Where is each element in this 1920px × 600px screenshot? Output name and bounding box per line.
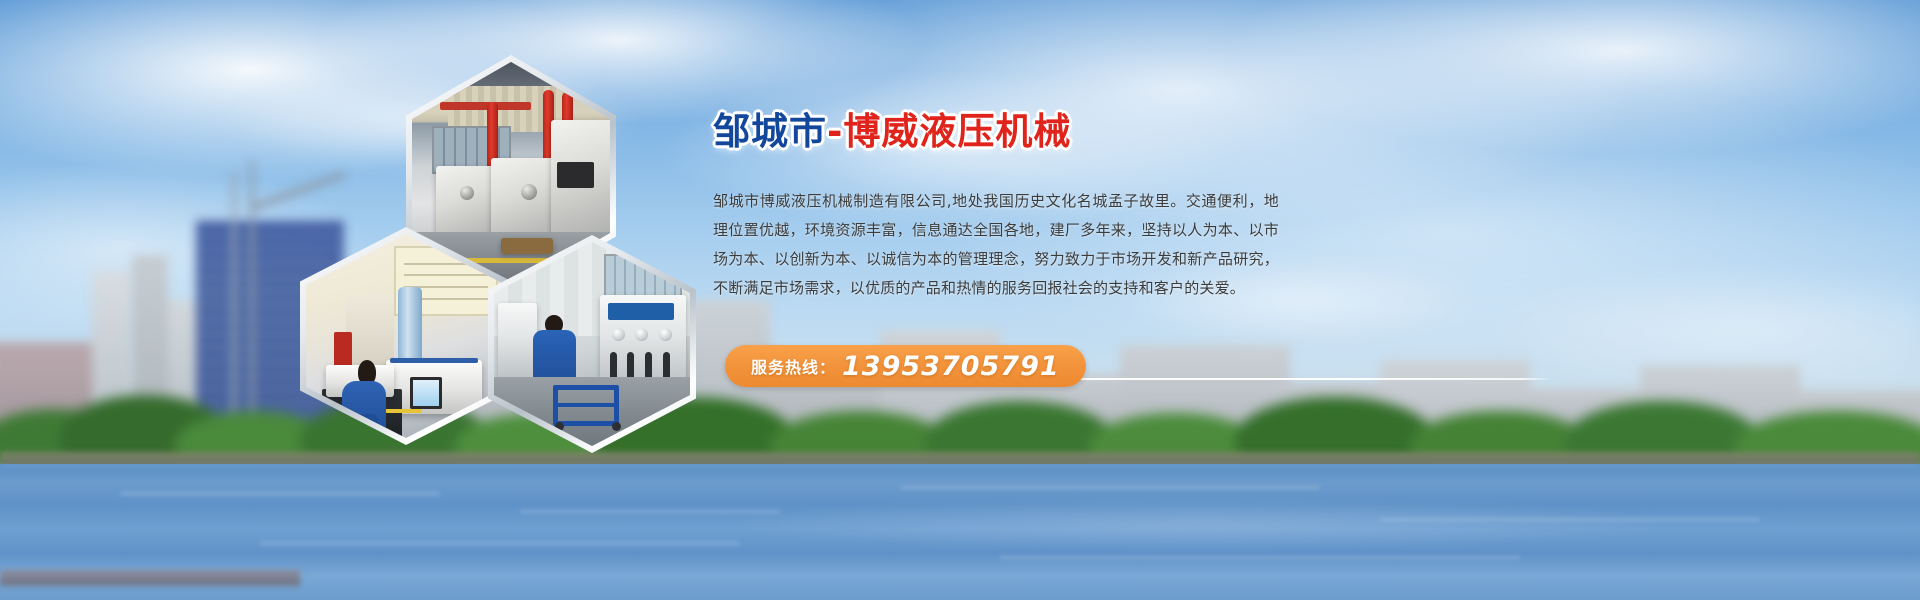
title-primary: 邹城市 (713, 110, 827, 153)
hotline-button[interactable]: 服务热线： 13953705791 (725, 345, 1086, 387)
hexagon-photo-cluster (300, 55, 700, 445)
banner-content: 邹城市-博威液压机械 邹城市博威液压机械制造有限公司,地处我国历史文化名城孟子故… (713, 108, 1613, 303)
lab-photo (306, 234, 506, 438)
hotline-label: 服务热线： (751, 354, 836, 378)
title-secondary: -博威液压机械 (827, 110, 1071, 153)
company-description: 邹城市博威液压机械制造有限公司,地处我国历史文化名城孟子故里。交通便利，地理位置… (713, 187, 1279, 303)
test-bench-photo (494, 242, 690, 446)
hotline-number: 13953705791 (842, 351, 1060, 382)
company-banner: 邹城市-博威液压机械 邹城市博威液压机械制造有限公司,地处我国历史文化名城孟子故… (0, 0, 1920, 600)
pier (0, 570, 300, 586)
page-title: 邹城市-博威液压机械 (713, 108, 1613, 155)
